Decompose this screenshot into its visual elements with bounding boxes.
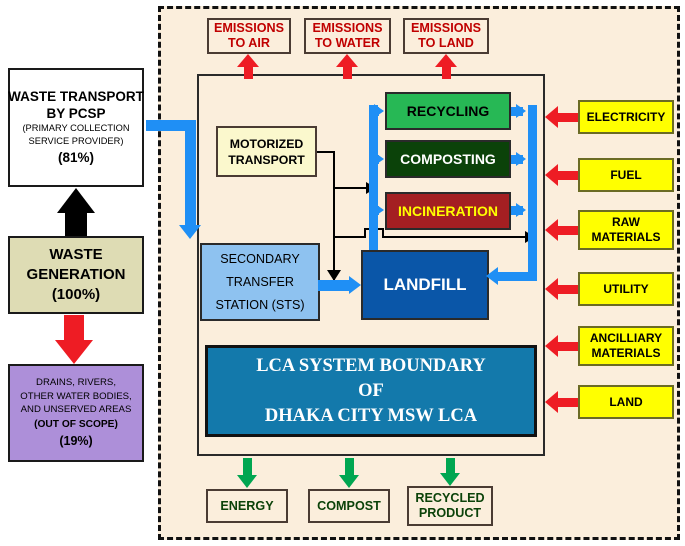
green-arrow-head-compost [339,475,359,488]
blue-arrow-head-out-composting [516,152,526,166]
waste-transport-line2: BY PCSP [46,105,105,122]
waste-transport-line4: SERVICE PROVIDER) [29,135,124,148]
blue-arrow-head-out-incineration [516,203,526,217]
red-arrow-head-land [545,391,558,413]
red-arrow-head-fuel [545,164,558,186]
emissions-to-land-box: EMISSIONS TO LAND [403,18,489,54]
sts-line3: STATION (STS) [215,294,304,317]
recycling-label: RECYCLING [407,103,489,119]
resource-ancilliary-materials-box: ANCILLIARY MATERIALS [578,326,674,366]
out-of-scope-line3: AND UNSERVED AREAS [21,403,132,417]
resource-raw-line1: RAW [612,215,640,230]
emissions-land-line1: EMISSIONS [411,21,481,36]
red-arrow-stem-generation-to-drains [64,315,84,341]
out-of-scope-line2: OTHER WATER BODIES, [20,390,131,404]
lca-boundary-line3: DHAKA CITY MSW LCA [265,404,477,429]
red-arrow-stem-electricity [558,113,578,122]
waste-generation-percent: (100%) [52,285,100,305]
emissions-land-line2: TO LAND [418,36,474,51]
out-of-scope-line1: DRAINS, RIVERS, [36,376,116,390]
green-arrow-stem-compost [345,458,354,476]
blue-line-sts-to-landfill [318,280,350,291]
waste-transport-percent: (81%) [58,148,94,168]
black-arrow-head-generation-to-transport [57,188,95,213]
resource-land-box: LAND [578,385,674,419]
red-arrow-stem-fuel [558,171,578,180]
resource-raw-materials-box: RAW MATERIALS [578,210,674,250]
output-compost-line1: COMPOST [317,499,381,514]
blue-riser-to-treatments [369,105,378,253]
sts-line1: SECONDARY [220,248,300,271]
green-arrow-head-energy [237,475,257,488]
lca-system-boundary-label-box: LCA SYSTEM BOUNDARY OF DHAKA CITY MSW LC… [205,345,537,437]
composting-box: COMPOSTING [385,140,511,178]
red-arrow-head-to-water [336,54,358,67]
red-arrow-head-to-land [435,54,457,67]
blue-return-vertical [528,105,537,281]
resource-fuel-line1: FUEL [610,168,641,183]
incineration-box: INCINERATION [385,192,511,230]
waste-transport-line1: WASTE TRANSPORT [8,88,144,105]
black-line-branch-to-upper [333,187,367,189]
output-energy-line1: ENERGY [220,499,273,514]
landfill-box: LANDFILL [361,250,489,320]
resource-ancilliary-line1: ANCILLIARY [590,331,662,346]
incineration-label: INCINERATION [398,203,498,219]
out-of-scope-box: DRAINS, RIVERS, OTHER WATER BODIES, AND … [8,364,144,462]
output-recycled-product-box: RECYCLED PRODUCT [407,486,493,526]
waste-transport-line3: (PRIMARY COLLECTION [22,122,129,135]
output-compost-box: COMPOST [308,489,390,523]
motorized-transport-box: MOTORIZED TRANSPORT [216,126,317,177]
red-arrow-stem-land [558,398,578,407]
output-recycled-line1: RECYCLED [415,491,484,506]
red-arrow-stem-to-air [244,65,253,79]
red-arrow-stem-ancilliary [558,342,578,351]
landfill-label: LANDFILL [383,275,466,295]
blue-arrow-head-to-recycling [374,104,384,118]
blue-return-horizontal-to-landfill [498,272,537,281]
lca-boundary-line1: LCA SYSTEM BOUNDARY [256,354,486,379]
red-arrow-head-electricity [545,106,558,128]
blue-arrow-head-to-incineration [374,203,384,217]
resource-fuel-box: FUEL [578,158,674,192]
red-arrow-head-generation-to-drains [55,340,93,364]
emissions-water-line1: EMISSIONS [313,21,383,36]
resource-raw-line2: MATERIALS [591,230,660,245]
resource-electricity-box: ELECTRICITY [578,100,674,134]
output-recycled-line2: PRODUCT [419,506,481,521]
emissions-to-air-box: EMISSIONS TO AIR [207,18,291,54]
red-arrow-stem-to-water [343,65,352,79]
diagram-canvas: WASTE TRANSPORT BY PCSP (PRIMARY COLLECT… [0,0,685,546]
green-arrow-stem-recycled [446,458,455,474]
resource-electricity-line1: ELECTRICITY [587,110,666,125]
emissions-water-line2: TO WATER [315,36,380,51]
waste-generation-box: WASTE GENERATION (100%) [8,236,144,314]
red-arrow-head-utility [545,278,558,300]
secondary-transfer-station-box: SECONDARY TRANSFER STATION (STS) [200,243,320,321]
out-of-scope-line4: (OUT OF SCOPE) [34,417,118,432]
output-energy-box: ENERGY [206,489,288,523]
blue-arrow-head-sts-to-landfill [349,276,361,294]
waste-generation-line2: GENERATION [27,265,126,285]
black-line-motorized-trunk [333,151,335,281]
black-line-branch-to-right-b [382,236,526,238]
blue-arrow-head-into-sts [179,225,201,239]
lca-boundary-line2: OF [358,379,384,404]
motorized-transport-line1: MOTORIZED [230,136,304,152]
blue-arrow-head-to-composting [374,152,384,166]
emissions-air-line1: EMISSIONS [214,21,284,36]
resource-ancilliary-line2: MATERIALS [591,346,660,361]
waste-transport-by-pcsp-box: WASTE TRANSPORT BY PCSP (PRIMARY COLLECT… [8,68,144,187]
out-of-scope-percent: (19%) [59,432,92,450]
red-arrow-stem-utility [558,285,578,294]
blue-arrow-head-into-landfill [486,267,498,285]
red-arrow-stem-raw [558,226,578,235]
recycling-box: RECYCLING [385,92,511,130]
resource-utility-line1: UTILITY [603,282,648,297]
motorized-transport-line2: TRANSPORT [228,152,305,168]
black-line-branch-to-right-a [333,236,365,238]
resource-land-line1: LAND [609,395,642,410]
waste-generation-line1: WASTE [49,245,102,265]
red-arrow-head-ancilliary [545,335,558,357]
blue-arrow-head-out-recycling [516,104,526,118]
red-arrow-head-raw [545,219,558,241]
red-arrow-stem-to-land [442,65,451,79]
blue-line-transport-to-sts-vertical [185,120,196,226]
green-arrow-stem-energy [243,458,252,476]
green-arrow-head-recycled [440,473,460,486]
composting-label: COMPOSTING [400,151,496,167]
resource-utility-box: UTILITY [578,272,674,306]
red-arrow-head-to-air [237,54,259,67]
emissions-to-water-box: EMISSIONS TO WATER [304,18,391,54]
emissions-air-line2: TO AIR [228,36,270,51]
sts-line2: TRANSFER [226,271,294,294]
